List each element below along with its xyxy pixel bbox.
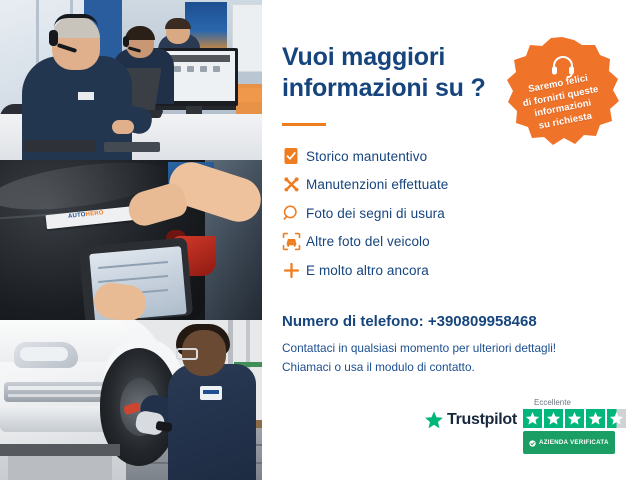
star-2 — [544, 409, 563, 428]
trustpilot-wordmark: Trustpilot — [447, 411, 517, 429]
star-4 — [586, 409, 605, 428]
verified-label: AZIENDA VERIFICATA — [539, 439, 609, 446]
checkbox-checked-icon — [276, 147, 306, 165]
headline-line-1: Vuoi maggiori — [282, 42, 512, 73]
technician-wheel-inspection-photo — [0, 320, 262, 480]
trustpilot-widget[interactable]: Trustpilot Eccellente AZIENDA VERIFICATA — [424, 398, 620, 454]
callout-badge: Saremo felici di fornirti queste informa… — [498, 36, 626, 154]
title-underline-rule — [282, 123, 326, 126]
trustpilot-rating-label: Eccellente — [534, 398, 571, 407]
contact-body-line-2: Chiamaci o usa il modulo di contatto. — [282, 360, 475, 374]
feature-list: Storico manutentivo Manutenzi — [276, 142, 606, 285]
car-scan-icon — [276, 232, 306, 251]
phone-label: Numero di telefono: — [282, 313, 424, 330]
plus-icon — [276, 261, 306, 280]
contact-body-line-1: Contattaci in qualsiasi momento per ulte… — [282, 341, 556, 355]
list-item: Manutenzioni effettuate — [276, 171, 606, 200]
ad-banner: AUTOHERO — [0, 0, 640, 480]
crossed-tools-icon — [276, 175, 306, 194]
list-item: Foto dei segni di usura — [276, 199, 606, 228]
autohero-ruler-inspection-photo: AUTOHERO — [0, 160, 262, 320]
headline-line-2: informazioni su ? — [282, 73, 512, 104]
list-item-label: Altre foto del veicolo — [306, 234, 430, 249]
magnifier-icon — [276, 204, 306, 222]
trustpilot-star-rating — [523, 409, 626, 428]
star-1 — [523, 409, 542, 428]
list-item: Altre foto del veicolo — [276, 228, 606, 257]
call-center-agents-photo — [0, 0, 262, 160]
check-circle-icon — [529, 434, 536, 452]
star-5-half — [607, 409, 626, 428]
list-item-label: Foto dei segni di usura — [306, 206, 445, 221]
verified-company-badge: AZIENDA VERIFICATA — [523, 431, 615, 454]
photo-collage: AUTOHERO — [0, 0, 262, 480]
phone-number[interactable]: +390809958468 — [428, 313, 537, 330]
trustpilot-logo: Trustpilot — [424, 410, 517, 430]
list-item-label: E molto altro ancora — [306, 263, 429, 278]
list-item-label: Storico manutentivo — [306, 149, 427, 164]
trustpilot-star-icon — [424, 410, 444, 430]
star-3 — [565, 409, 584, 428]
list-item: E molto altro ancora — [276, 256, 606, 285]
list-item-label: Manutenzioni effettuate — [306, 177, 448, 192]
page-title: Vuoi maggiori informazioni su ? — [282, 42, 512, 103]
phone-number-line: Numero di telefono: +390809958468 — [282, 313, 537, 330]
